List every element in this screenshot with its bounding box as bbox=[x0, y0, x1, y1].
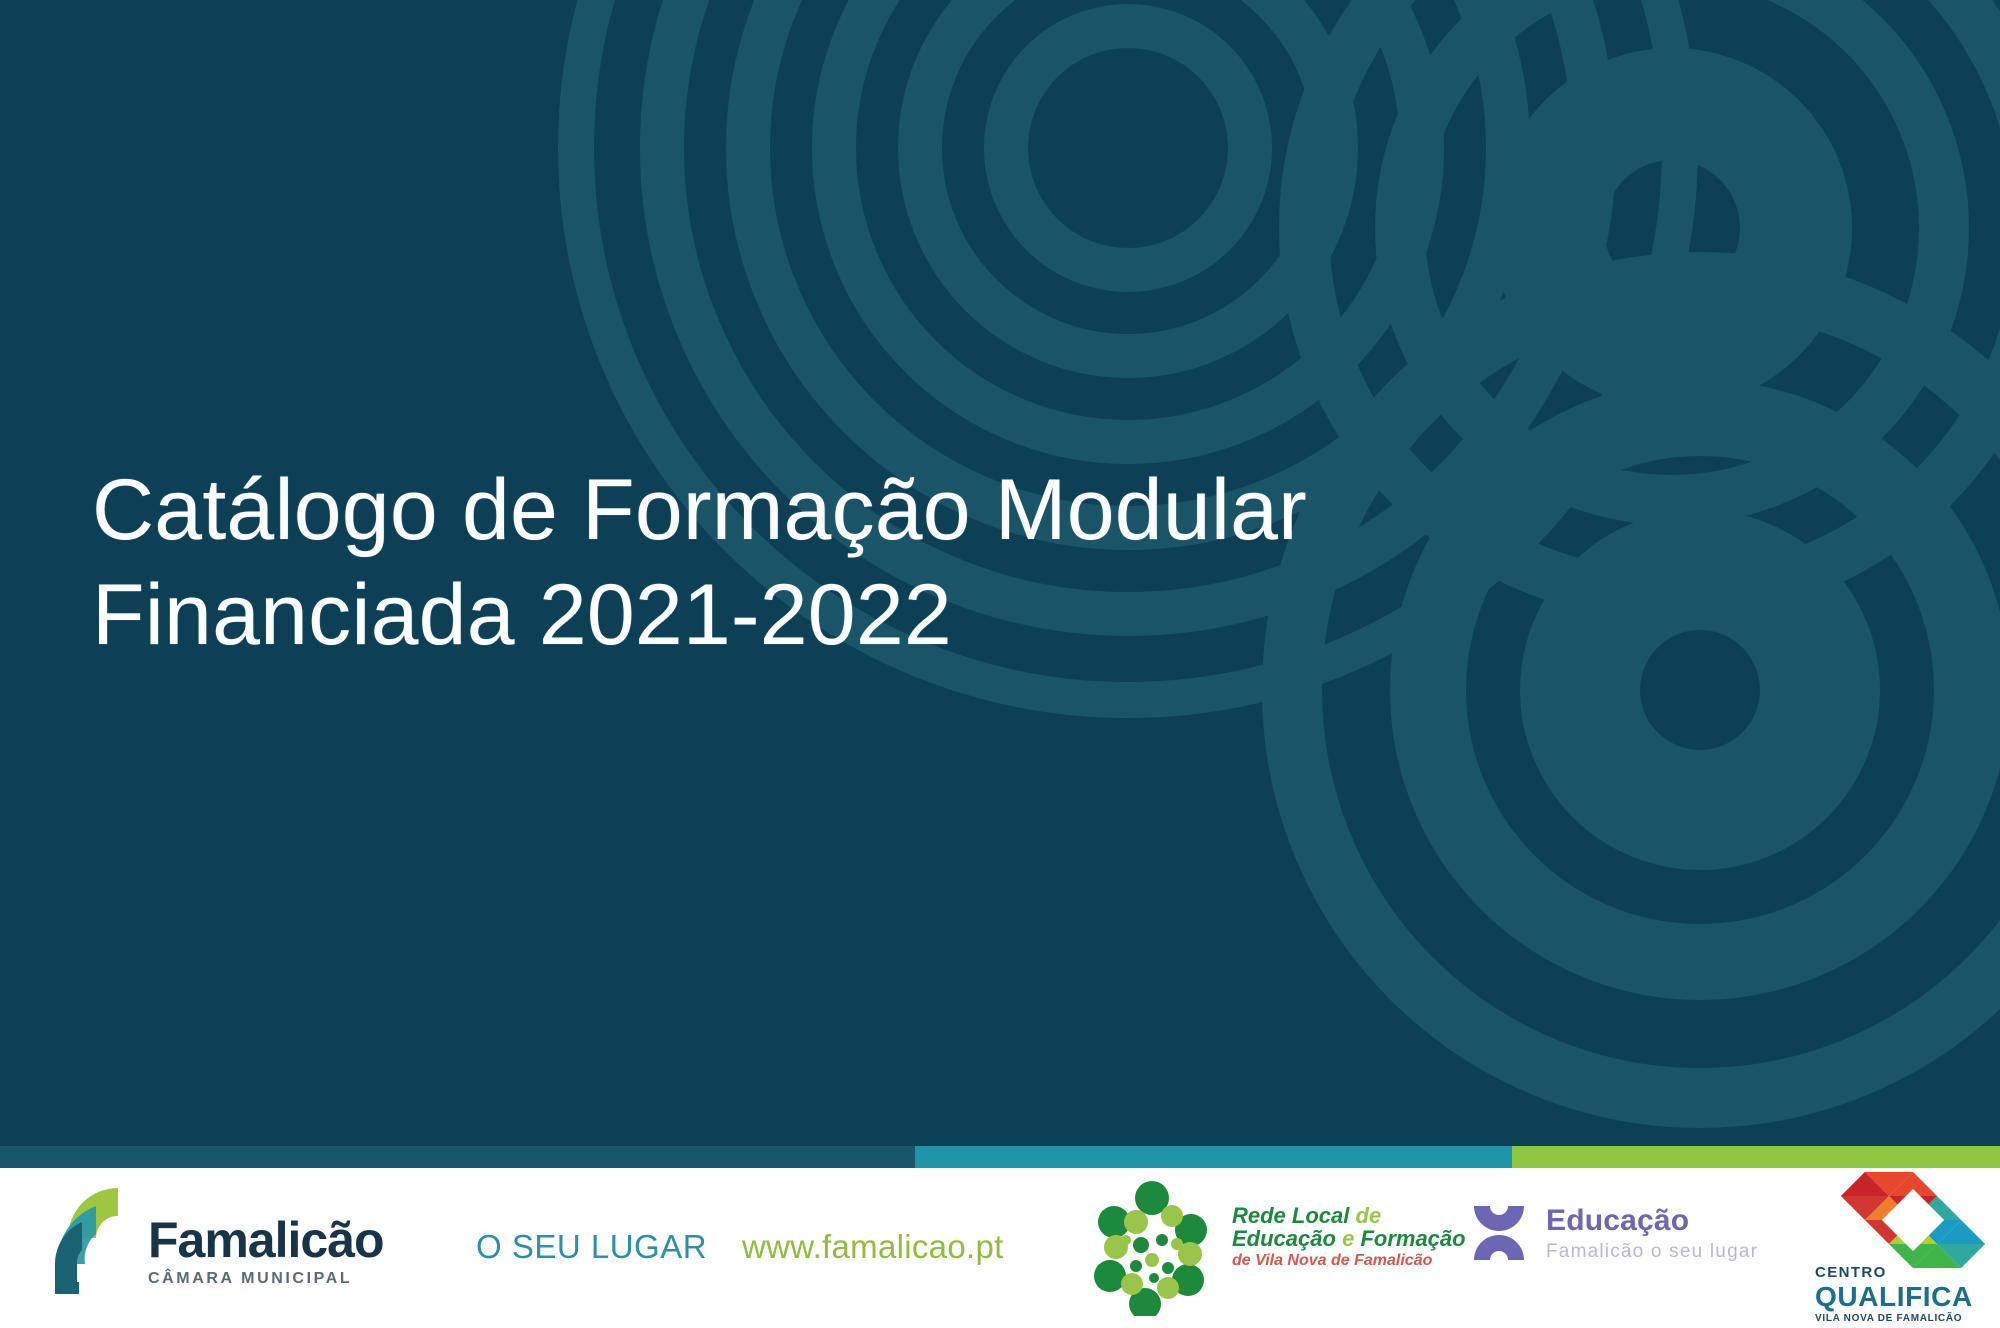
educacao-logo: Educação Famalicão o seu lugar bbox=[1468, 1202, 1758, 1264]
footer-tagline: O SEU LUGAR bbox=[476, 1228, 707, 1266]
footer-logo-bar: Famalicão CÂMARA MUNICIPAL O SEU LUGAR w… bbox=[0, 1168, 2000, 1328]
educacao-subtitle: Famalicão o seu lugar bbox=[1546, 1241, 1758, 1263]
educacao-wordmark: Educação Famalicão o seu lugar bbox=[1546, 1204, 1758, 1263]
educacao-title: Educação bbox=[1546, 1204, 1758, 1238]
famalicao-name: Famalicão bbox=[148, 1213, 384, 1267]
famalicao-municipality-logo: Famalicão CÂMARA MUNICIPAL bbox=[52, 1186, 384, 1294]
famalicao-wordmark: Famalicão CÂMARA MUNICIPAL bbox=[148, 1213, 384, 1288]
rede-local-dots-icon bbox=[1090, 1180, 1230, 1316]
centro-qualifica-line-2: QUALIFICA bbox=[1815, 1281, 1995, 1312]
famalicao-f-mark-icon bbox=[52, 1186, 134, 1294]
rede-local-logo: Rede Local de Educação e Formação de Vil… bbox=[1090, 1180, 1470, 1316]
footer-website-url[interactable]: www.famalicao.pt bbox=[742, 1228, 1004, 1266]
stripe-segment-dark-teal bbox=[0, 1146, 915, 1168]
educacao-x-mark-icon bbox=[1468, 1202, 1530, 1264]
page-title: Catálogo de Formação Modular Financiada … bbox=[92, 458, 1512, 668]
centro-qualifica-line-3: VILA NOVA DE FAMALICÃO bbox=[1815, 1312, 1995, 1325]
rede-local-line-2b: e bbox=[1342, 1226, 1354, 1251]
famalicao-subtitle: CÂMARA MUNICIPAL bbox=[148, 1270, 352, 1288]
centro-qualifica-logo: CENTRO QUALIFICA VILA NOVA DE FAMALICÃO bbox=[1815, 1172, 1995, 1324]
rede-local-line-2a: Educação bbox=[1232, 1226, 1336, 1251]
stripe-segment-teal bbox=[915, 1146, 1512, 1168]
rede-local-line-1: Rede Local de bbox=[1232, 1204, 1466, 1227]
centro-qualifica-wordmark: CENTRO QUALIFICA VILA NOVA DE FAMALICÃO bbox=[1815, 1264, 1995, 1325]
presentation-slide: Catálogo de Formação Modular Financiada … bbox=[0, 0, 2000, 1328]
rede-local-line-1b: de bbox=[1356, 1203, 1382, 1228]
rede-local-line-2c: Formação bbox=[1360, 1226, 1465, 1251]
rede-local-wordmark: Rede Local de Educação e Formação de Vil… bbox=[1232, 1204, 1466, 1270]
title-line-2: Financiada 2021-2022 bbox=[92, 563, 1512, 668]
title-line-1: Catálogo de Formação Modular bbox=[92, 458, 1512, 563]
rede-local-line-2: Educação e Formação bbox=[1232, 1227, 1466, 1250]
centro-qualifica-line-1: CENTRO bbox=[1815, 1264, 1995, 1281]
hero-banner: Catálogo de Formação Modular Financiada … bbox=[0, 0, 2000, 1146]
centro-qualifica-diamond-icon bbox=[1837, 1172, 1989, 1268]
rede-local-line-1a: Rede Local bbox=[1232, 1203, 1349, 1228]
stripe-segment-green bbox=[1512, 1146, 2000, 1168]
rede-local-line-3: de Vila Nova de Famalicão bbox=[1232, 1253, 1466, 1270]
accent-stripe bbox=[0, 1146, 2000, 1168]
